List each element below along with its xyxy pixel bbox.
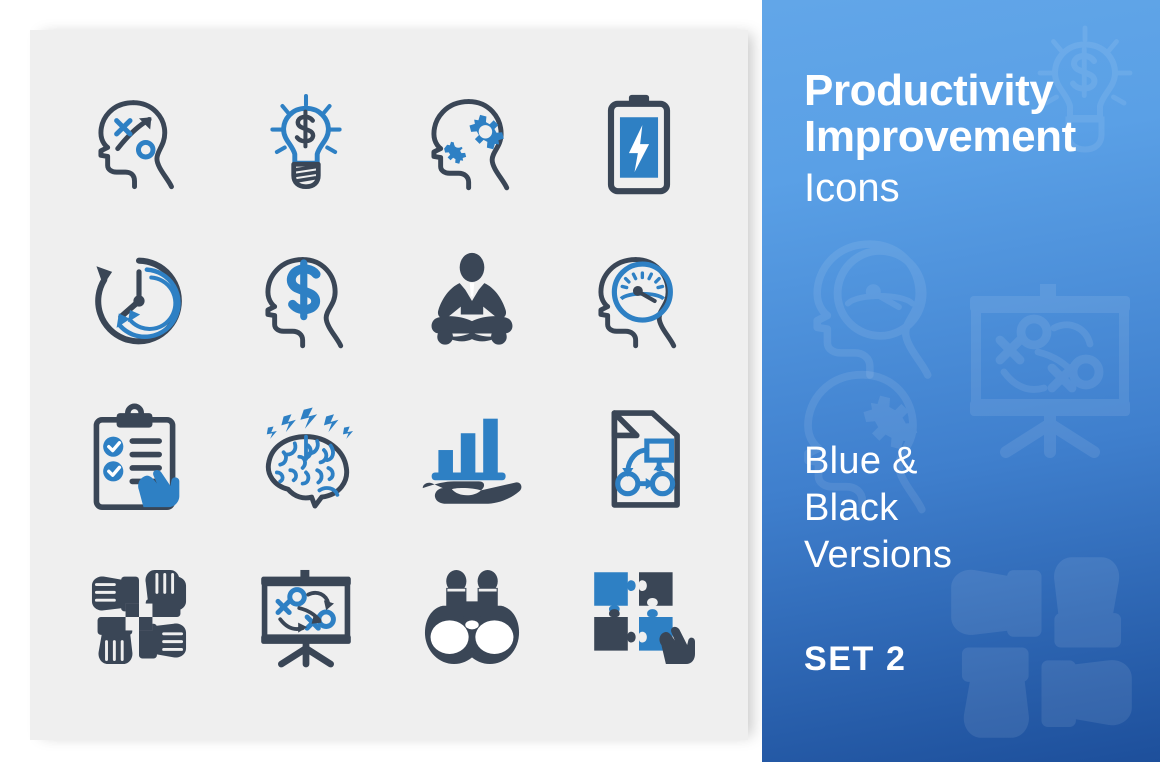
icon-bulb-dollar[interactable] [223,64,390,222]
panel-title: Productivity Improvement Icons [804,68,1140,212]
icon-head-dollar[interactable] [223,222,390,380]
blue-info-panel: Productivity Improvement Icons Blue & Bl… [762,0,1160,762]
title-line-3: Icons [804,164,1140,212]
icon-binoculars[interactable] [389,538,556,696]
title-line-2: Improvement [804,114,1140,160]
icon-grid [30,30,748,740]
icon-head-gauge[interactable] [556,222,723,380]
versions-line-3: Versions [804,532,1140,579]
icon-clipboard-checklist[interactable] [56,380,223,538]
icon-strategy-board[interactable] [223,538,390,696]
versions-line-1: Blue & [804,438,1140,485]
versions-block: Blue & Black Versions [804,438,1140,579]
icon-teamwork-hands[interactable] [56,538,223,696]
set-label: SET 2 [804,640,1140,679]
icon-brain-energy[interactable] [223,380,390,538]
title-line-1: Productivity [804,68,1140,114]
icon-battery-charge[interactable] [556,64,723,222]
versions-line-2: Black [804,485,1140,532]
icon-showcase-panel [30,30,748,740]
icon-meditation[interactable] [389,222,556,380]
set-block: SET 2 [804,640,1140,679]
icon-head-strategy[interactable] [56,64,223,222]
icon-document-flowchart[interactable] [556,380,723,538]
icon-puzzle-hand[interactable] [556,538,723,696]
poster-canvas: Productivity Improvement Icons Blue & Bl… [0,0,1160,762]
icon-clock-arrows[interactable] [56,222,223,380]
icon-head-gears[interactable] [389,64,556,222]
icon-hand-bar-chart[interactable] [389,380,556,538]
